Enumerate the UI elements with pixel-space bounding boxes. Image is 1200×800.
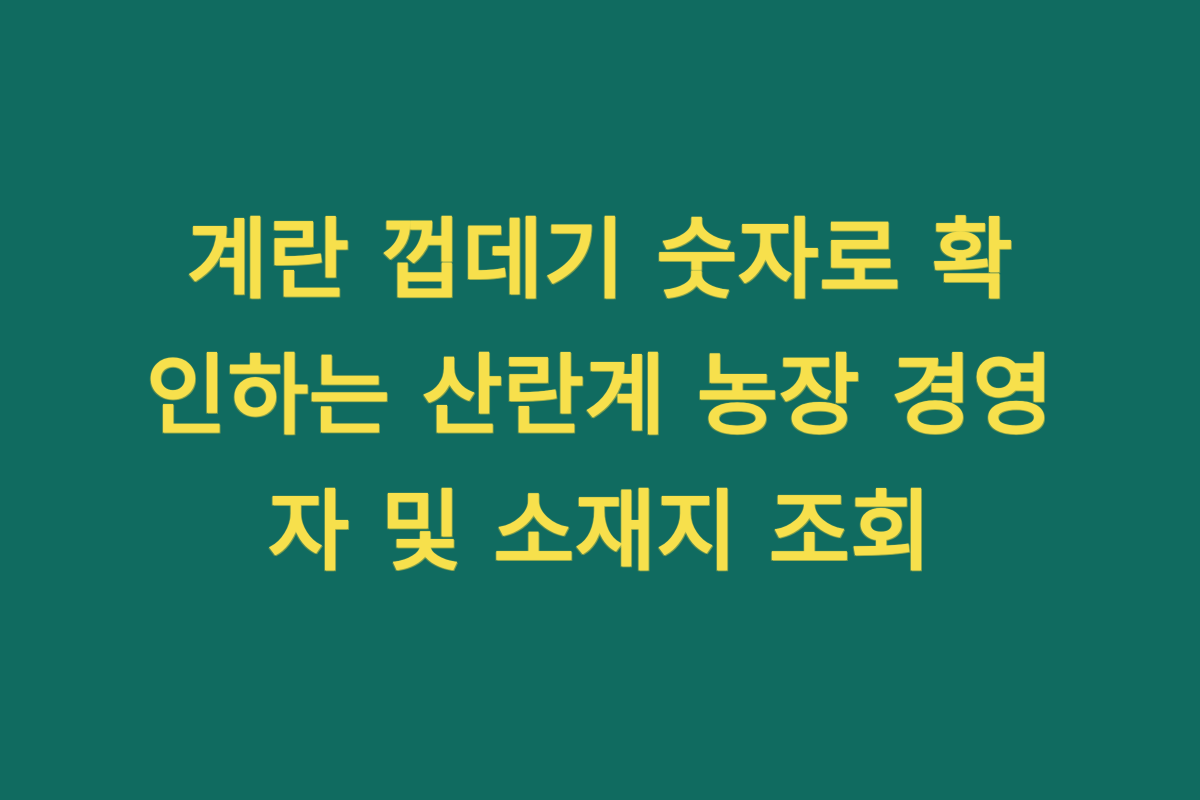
headline-block: 계란 껍데기 숫자로 확 인하는 산란계 농장 경영 자 및 소재지 조회 (110, 192, 1090, 600)
headline-line-1: 계란 껍데기 숫자로 확 (110, 192, 1090, 328)
poster-canvas: 계란 껍데기 숫자로 확 인하는 산란계 농장 경영 자 및 소재지 조회 (0, 0, 1200, 800)
page-title: 계란 껍데기 숫자로 확 인하는 산란계 농장 경영 자 및 소재지 조회 (110, 192, 1090, 600)
headline-line-3: 자 및 소재지 조회 (110, 464, 1090, 600)
headline-line-2: 인하는 산란계 농장 경영 (110, 328, 1090, 464)
